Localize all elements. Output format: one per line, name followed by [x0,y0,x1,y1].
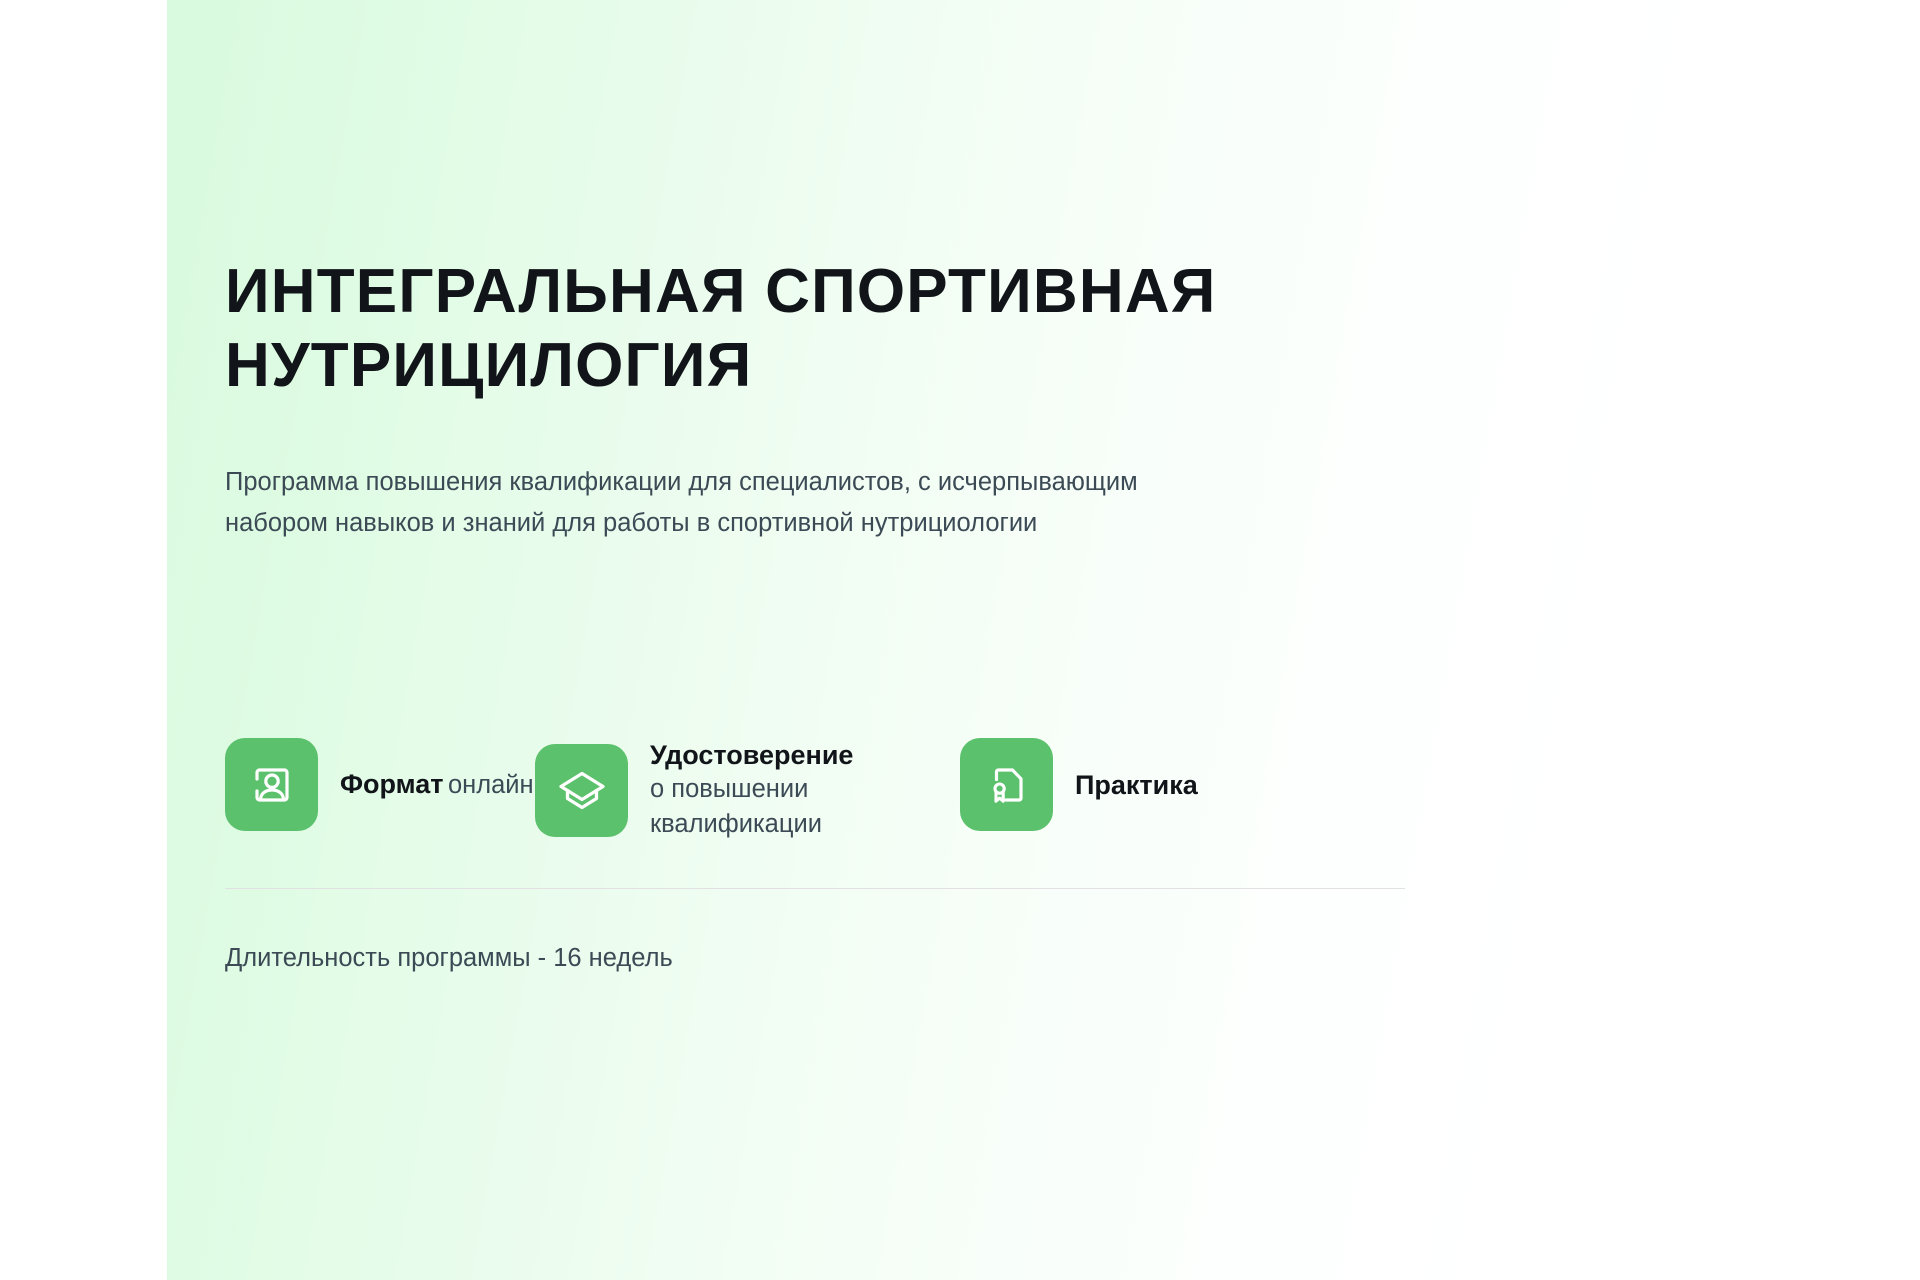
feature-title: Удостоверение [650,740,853,770]
gradient-panel: ИНТЕГРАЛЬНАЯ СПОРТИВНАЯ НУТРИЦИЛОГИЯ Про… [167,0,1755,1280]
subtitle-line-2: набором навыков и знаний для работы в сп… [225,503,1425,544]
user-card-icon [225,738,318,831]
page-subtitle: Программа повышения квалификации для спе… [225,462,1425,544]
feature-text-format: Формат онлайн [340,767,534,803]
feature-item-format: Формат онлайн [225,738,535,831]
program-duration: Длительность программы - 16 недель [225,940,673,976]
feature-title: Практика [1075,770,1198,800]
feature-text-practice: Практика [1075,768,1198,802]
title-line-2: НУТРИЦИЛОГИЯ [225,329,1465,403]
page-title: ИНТЕГРАЛЬНАЯ СПОРТИВНАЯ НУТРИЦИЛОГИЯ [225,255,1465,403]
graduation-cap-icon [535,744,628,837]
slide-page: ИНТЕГРАЛЬНАЯ СПОРТИВНАЯ НУТРИЦИЛОГИЯ Про… [0,0,1920,1280]
feature-subtitle-line-1: онлайн [448,771,534,799]
content-column: ИНТЕГРАЛЬНАЯ СПОРТИВНАЯ НУТРИЦИЛОГИЯ Про… [225,0,1405,1280]
certificate-document-icon [960,738,1053,831]
section-divider [225,888,1405,889]
feature-subtitle-line-2: квалификации [650,810,822,838]
feature-subtitle-line-1: о повышении [650,775,808,803]
feature-list: Формат онлайн Удостоверение о повыше [225,738,1425,842]
feature-text-certificate: Удостоверение о повышении квалификации [650,738,960,842]
feature-item-practice: Практика [960,738,1300,831]
feature-title: Формат [340,769,444,799]
feature-item-certificate: Удостоверение о повышении квалификации [535,738,960,842]
subtitle-line-1: Программа повышения квалификации для спе… [225,462,1425,503]
title-line-1: ИНТЕГРАЛЬНАЯ СПОРТИВНАЯ [225,255,1465,329]
